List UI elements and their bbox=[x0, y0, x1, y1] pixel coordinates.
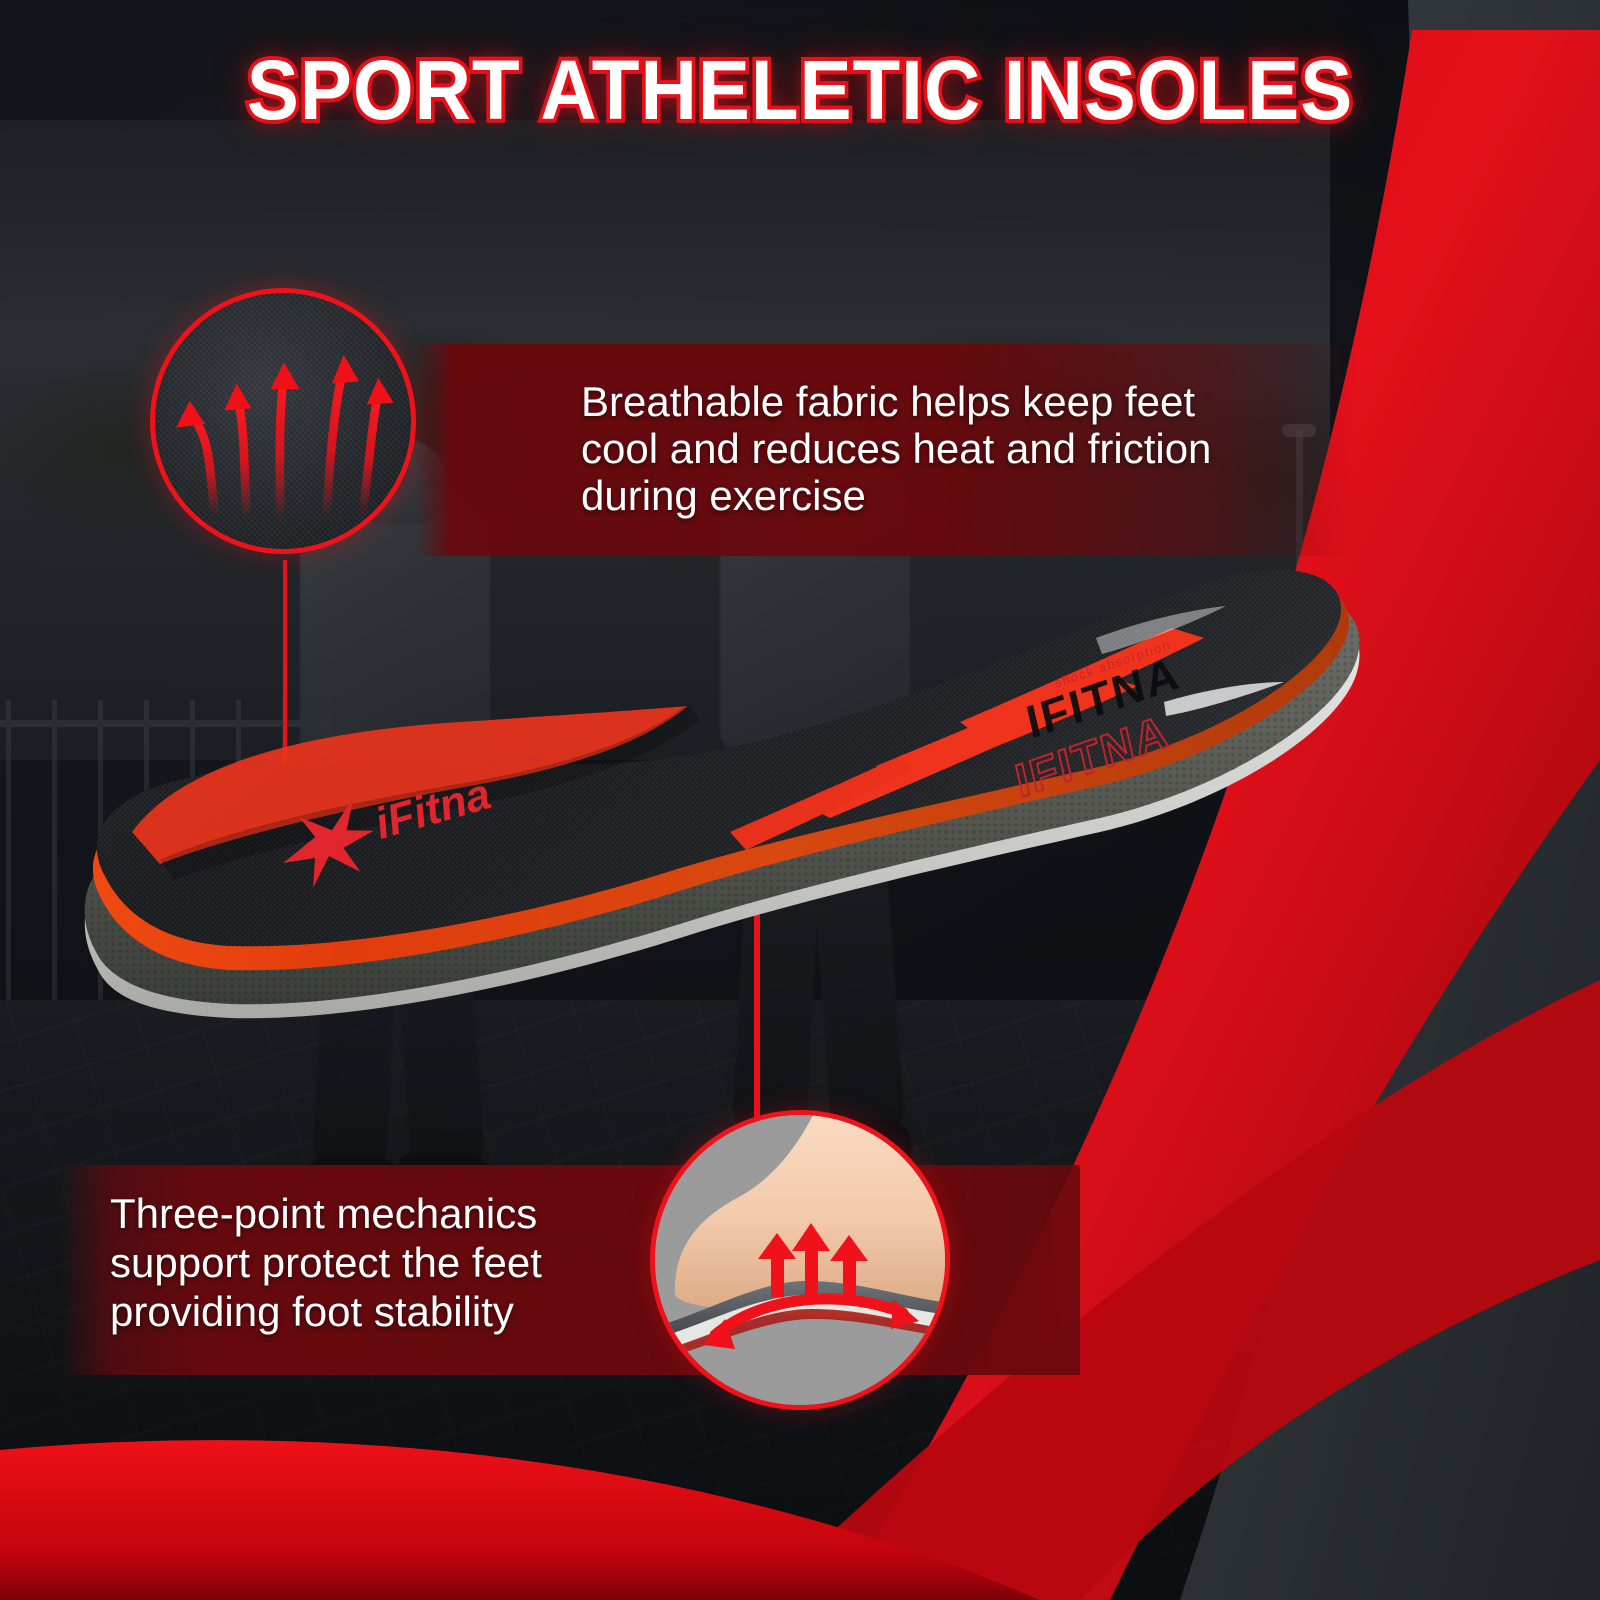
breathable-line-1: Breathable fabric helps keep feet bbox=[581, 378, 1325, 425]
foot-arch-support-icon bbox=[650, 1110, 950, 1410]
breathable-line-2: cool and reduces heat and friction bbox=[581, 425, 1325, 472]
airflow-arrows-icon bbox=[150, 288, 416, 554]
page-title: SPORT ATHELETIC INSOLES bbox=[56, 42, 1544, 139]
banner-breathable-text: Breathable fabric helps keep feet cool a… bbox=[415, 344, 1355, 556]
insole-product-photo: shock absorption IFITNA IFITNA iFitna TM bbox=[40, 570, 1400, 1090]
product-infographic: shock absorption IFITNA IFITNA iFitna TM… bbox=[0, 0, 1600, 1600]
breathable-line-3: during exercise bbox=[581, 472, 1325, 519]
